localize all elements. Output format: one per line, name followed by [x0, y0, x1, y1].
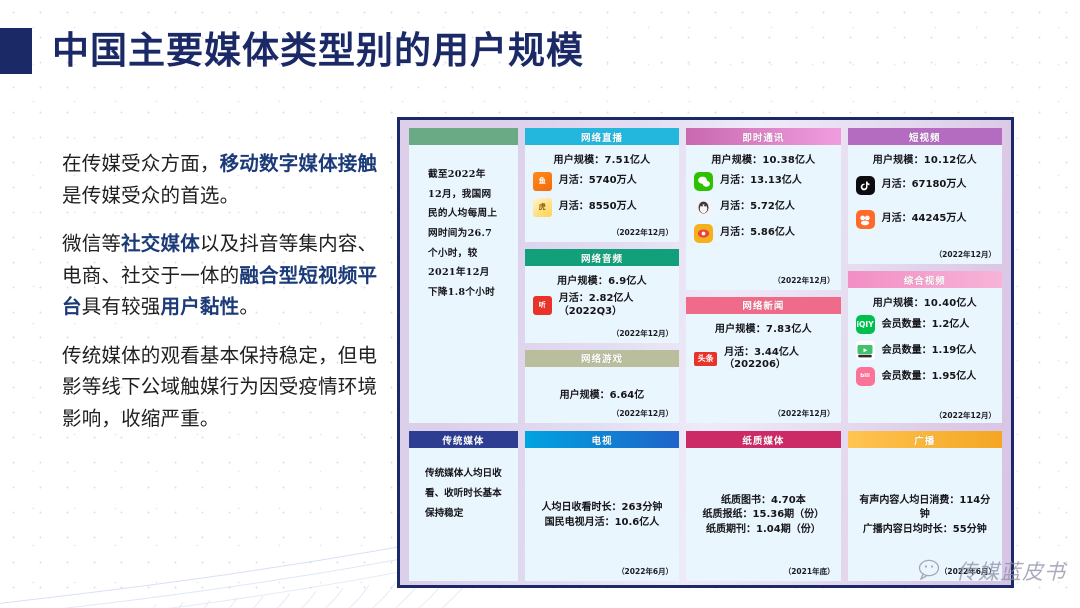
card-short-video-body: 用户规模：10.12亿人 月活：67180万人 月活：44245万人 （2022 [848, 145, 1002, 264]
qq-mau: 月活：5.72亿人 [720, 201, 795, 214]
toutiao-icon: 头条 [694, 352, 717, 366]
card-tv-body: 人均日收看时长：263分钟 国民电视月活：10.6亿人 （2022年6月） [525, 448, 679, 581]
huya-mau: 月活：8550万人 [559, 201, 637, 214]
p2-part-g: 。 [239, 295, 259, 318]
online-news-stamp: （2022年12月） [773, 408, 834, 419]
card-instant-messaging-title: 即时通讯 [686, 128, 840, 145]
card-online-live-title: 网络直播 [525, 128, 679, 145]
card-online-audio: 网络音频 用户规模：6.9亿人 听 月活：2.82亿人 （2022Q3） （20… [525, 249, 679, 343]
p2-part-e: 具有较强 [82, 295, 161, 318]
card-intro-header [409, 128, 518, 145]
card-online-audio-title: 网络音频 [525, 249, 679, 266]
infographic-top-grid: 截至2022年12月，我国网民的人均每周上网时间为26.7个小时，较2021年1… [409, 128, 1002, 423]
card-online-live-body: 用户规模：7.51亿人 鱼 月活：5740万人 虎 月活：8550万人 （202… [525, 145, 679, 242]
comprehensive-user-scale: 用户规模：10.40亿人 [855, 294, 995, 309]
iqiyi-members: 会员数量：1.2亿人 [882, 319, 970, 332]
card-online-audio-body: 用户规模：6.9亿人 听 月活：2.82亿人 （2022Q3） （2022年12… [525, 266, 679, 343]
metric-row: 听 月活：2.82亿人 （2022Q3） [532, 293, 672, 318]
card-online-game-body: 用户规模：6.64亿 （2022年12月） [525, 367, 679, 423]
ximalaya-icon: 听 [533, 296, 552, 315]
column-intro: 截至2022年12月，我国网民的人均每周上网时间为26.7个小时，较2021年1… [409, 128, 518, 423]
huya-icon: 虎 [533, 198, 552, 217]
card-comprehensive-video: 综合视频 用户规模：10.40亿人 iQIY 会员数量：1.2亿人 会员数量：1… [848, 271, 1002, 423]
card-short-video-title: 短视频 [848, 128, 1002, 145]
card-traditional-media: 传统媒体 传统媒体人均日收看、收听时长基本保持稳定 [409, 431, 518, 581]
card-tv: 电视 人均日收看时长：263分钟 国民电视月活：10.6亿人 （2022年6月） [525, 431, 679, 581]
column-shortvideo-comprehensive: 短视频 用户规模：10.12亿人 月活：67180万人 月活：44245万人 [848, 128, 1002, 423]
p2-highlight-1: 社交媒体 [121, 232, 200, 255]
column-live-audio-game: 网络直播 用户规模：7.51亿人 鱼 月活：5740万人 虎 月活：8550万人… [525, 128, 679, 423]
wechat-icon [918, 558, 948, 584]
column-im-news: 即时通讯 用户规模：10.38亿人 月活：13.13亿人 月活：5.72亿人 [686, 128, 840, 423]
douyin-mau: 月活：67180万人 [882, 179, 967, 192]
toutiao-mau: 月活：3.44亿人 （202206） [724, 347, 799, 372]
page-title: 中国主要媒体类型别的用户规模 [52, 31, 584, 72]
p1-part-c: 是传媒受众的首选。 [62, 184, 239, 207]
metric-row: 虎 月活：8550万人 [532, 198, 672, 217]
paragraph-2: 微信等社交媒体以及抖音等集内容、电商、社交于一体的融合型短视频平台具有较强用户黏… [62, 228, 380, 323]
comprehensive-stamp: （2022年12月） [935, 410, 996, 421]
card-print-media-title: 纸质媒体 [686, 431, 840, 448]
radio-daily-duration: 广播内容日均时长：55分钟 [855, 523, 995, 538]
tv-daily-watch-time: 人均日收看时长：263分钟 [532, 501, 672, 516]
online-game-user-scale: 用户规模：6.64亿 [532, 389, 672, 404]
metric-row: 月活：13.13亿人 [693, 172, 833, 191]
infographic-panel: 截至2022年12月，我国网民的人均每周上网时间为26.7个小时，较2021年1… [397, 117, 1014, 588]
p2-highlight-3: 用户黏性 [161, 295, 240, 318]
tv-stamp: （2022年6月） [617, 566, 673, 577]
body-copy: 在传媒受众方面，移动数字媒体接触是传媒受众的首选。 微信等社交媒体以及抖音等集内… [62, 148, 380, 435]
iqiyi-icon: iQIY [856, 315, 875, 334]
ximalaya-mau: 月活：2.82亿人 （2022Q3） [559, 293, 634, 318]
watermark-text: 传媒蓝皮书 [956, 556, 1066, 586]
wechat-mau: 月活：13.13亿人 [720, 175, 802, 188]
kuaishou-mau: 月活：44245万人 [882, 213, 967, 226]
card-intro: 截至2022年12月，我国网民的人均每周上网时间为26.7个小时，较2021年1… [409, 128, 518, 423]
card-intro-body: 截至2022年12月，我国网民的人均每周上网时间为26.7个小时，较2021年1… [409, 145, 518, 423]
tv-monthly-active: 国民电视月活：10.6亿人 [532, 516, 672, 531]
card-traditional-media-body: 传统媒体人均日收看、收听时长基本保持稳定 [409, 448, 518, 581]
intro-text: 截至2022年12月，我国网民的人均每周上网时间为26.7个小时，较2021年1… [416, 151, 511, 303]
bilibili-members: 会员数量：1.95亿人 [882, 371, 977, 384]
card-instant-messaging-body: 用户规模：10.38亿人 月活：13.13亿人 月活：5.72亿人 [686, 145, 840, 290]
bilibili-icon: bili [856, 367, 875, 386]
online-game-stamp: （2022年12月） [612, 408, 673, 419]
card-online-game: 网络游戏 用户规模：6.64亿 （2022年12月） [525, 350, 679, 423]
tv-center: 人均日收看时长：263分钟 国民电视月活：10.6亿人 [532, 454, 672, 577]
douyu-icon: 鱼 [533, 172, 552, 191]
short-video-stamp: （2022年12月） [935, 249, 996, 260]
online-audio-user-scale: 用户规模：6.9亿人 [532, 272, 672, 287]
kuaishou-icon [856, 210, 875, 229]
youku-members: 会员数量：1.19亿人 [882, 345, 977, 358]
traditional-media-text: 传统媒体人均日收看、收听时长基本保持稳定 [416, 454, 511, 524]
youku-icon [856, 341, 875, 360]
card-online-news: 网络新闻 用户规模：7.83亿人 头条 月活：3.44亿人 （202206） （… [686, 297, 840, 423]
card-online-news-title: 网络新闻 [686, 297, 840, 314]
online-live-stamp: （2022年12月） [612, 227, 673, 238]
card-print-media-body: 纸质图书：4.70本 纸质报纸：15.36期（份） 纸质期刊：1.04期（份） … [686, 448, 840, 581]
qq-icon [694, 198, 713, 217]
short-video-user-scale: 用户规模：10.12亿人 [855, 151, 995, 166]
card-tv-title: 电视 [525, 431, 679, 448]
card-comprehensive-video-body: 用户规模：10.40亿人 iQIY 会员数量：1.2亿人 会员数量：1.19亿人… [848, 288, 1002, 423]
metric-row: bili 会员数量：1.95亿人 [855, 367, 995, 386]
page-title-row: 中国主要媒体类型别的用户规模 [0, 28, 584, 74]
wechat-icon [694, 172, 713, 191]
weibo-mau: 月活：5.86亿人 [720, 227, 795, 240]
p1-highlight: 移动数字媒体接触 [220, 152, 378, 175]
metric-row: 月活：44245万人 [855, 210, 995, 229]
print-media-stamp: （2021年底） [784, 566, 835, 577]
print-books: 纸质图书：4.70本 [693, 494, 833, 509]
douyu-mau: 月活：5740万人 [559, 175, 637, 188]
p2-part-a: 微信等 [62, 232, 121, 255]
weibo-icon [694, 224, 713, 243]
metric-row: 月活：67180万人 [855, 176, 995, 195]
card-online-game-title: 网络游戏 [525, 350, 679, 367]
metric-row: 鱼 月活：5740万人 [532, 172, 672, 191]
card-comprehensive-video-title: 综合视频 [848, 271, 1002, 288]
infographic-bottom-grid: 传统媒体 传统媒体人均日收看、收听时长基本保持稳定 电视 人均日收看时长：263… [409, 431, 1002, 581]
metric-row: 月活：5.72亿人 [693, 198, 833, 217]
paragraph-3: 传统媒体的观看基本保持稳定，但电影等线下公域触媒行为因受疫情环境影响，收缩严重。 [62, 340, 380, 435]
title-accent-square [0, 28, 32, 74]
paragraph-1: 在传媒受众方面，移动数字媒体接触是传媒受众的首选。 [62, 148, 380, 211]
print-periodicals: 纸质期刊：1.04期（份） [693, 523, 833, 538]
p1-part-a: 在传媒受众方面， [62, 152, 220, 175]
card-online-news-body: 用户规模：7.83亿人 头条 月活：3.44亿人 （202206） （2022年… [686, 314, 840, 423]
card-traditional-media-title: 传统媒体 [409, 431, 518, 448]
card-radio-title: 广播 [848, 431, 1002, 448]
metric-row: 会员数量：1.19亿人 [855, 341, 995, 360]
card-instant-messaging: 即时通讯 用户规模：10.38亿人 月活：13.13亿人 月活：5.72亿人 [686, 128, 840, 290]
im-user-scale: 用户规模：10.38亿人 [693, 151, 833, 166]
online-audio-stamp: （2022年12月） [612, 328, 673, 339]
douyin-icon [856, 176, 875, 195]
card-print-media: 纸质媒体 纸质图书：4.70本 纸质报纸：15.36期（份） 纸质期刊：1.04… [686, 431, 840, 581]
metric-row: 头条 月活：3.44亿人 （202206） [693, 347, 833, 372]
print-newspapers: 纸质报纸：15.36期（份） [693, 508, 833, 523]
online-news-user-scale: 用户规模：7.83亿人 [693, 320, 833, 335]
metric-row: iQIY 会员数量：1.2亿人 [855, 315, 995, 334]
radio-audio-consumption: 有声内容人均日消费：114分钟 [855, 494, 995, 523]
card-online-live: 网络直播 用户规模：7.51亿人 鱼 月活：5740万人 虎 月活：8550万人… [525, 128, 679, 242]
watermark: 传媒蓝皮书 [918, 556, 1066, 586]
metric-row: 月活：5.86亿人 [693, 224, 833, 243]
card-short-video: 短视频 用户规模：10.12亿人 月活：67180万人 月活：44245万人 [848, 128, 1002, 264]
print-media-center: 纸质图书：4.70本 纸质报纸：15.36期（份） 纸质期刊：1.04期（份） [693, 454, 833, 577]
im-stamp: （2022年12月） [773, 275, 834, 286]
online-live-user-scale: 用户规模：7.51亿人 [532, 151, 672, 166]
